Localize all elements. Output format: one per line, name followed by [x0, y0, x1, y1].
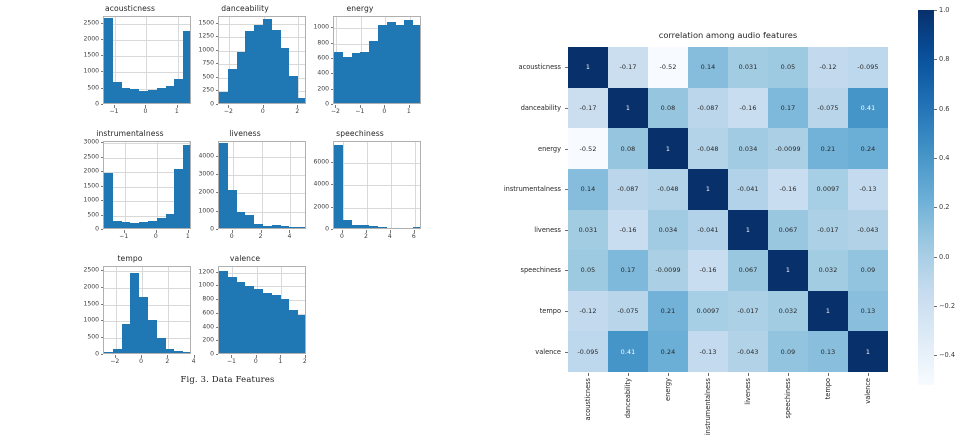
colorbar-tick-label: −0.4 — [939, 351, 955, 359]
colorbar-tick-mark — [934, 59, 937, 60]
colorbar-tick-mark — [934, 109, 937, 110]
colorbar-tick-label: 0.8 — [939, 55, 950, 63]
colorbar-ticks: 1.00.80.60.40.20.0−0.2−0.4 — [0, 0, 965, 440]
colorbar-tick-mark — [934, 158, 937, 159]
colorbar-tick-label: 1.0 — [939, 6, 950, 14]
colorbar-tick-label: 0.0 — [939, 253, 950, 261]
colorbar-tick-label: 0.6 — [939, 105, 950, 113]
colorbar-tick-mark — [934, 257, 937, 258]
colorbar-tick-label: 0.2 — [939, 203, 950, 211]
colorbar-tick-label: −0.2 — [939, 302, 955, 310]
colorbar-tick-mark — [934, 355, 937, 356]
colorbar-tick-mark — [934, 10, 937, 11]
colorbar-tick-mark — [934, 306, 937, 307]
colorbar-tick-label: 0.4 — [939, 154, 950, 162]
colorbar-tick-mark — [934, 207, 937, 208]
